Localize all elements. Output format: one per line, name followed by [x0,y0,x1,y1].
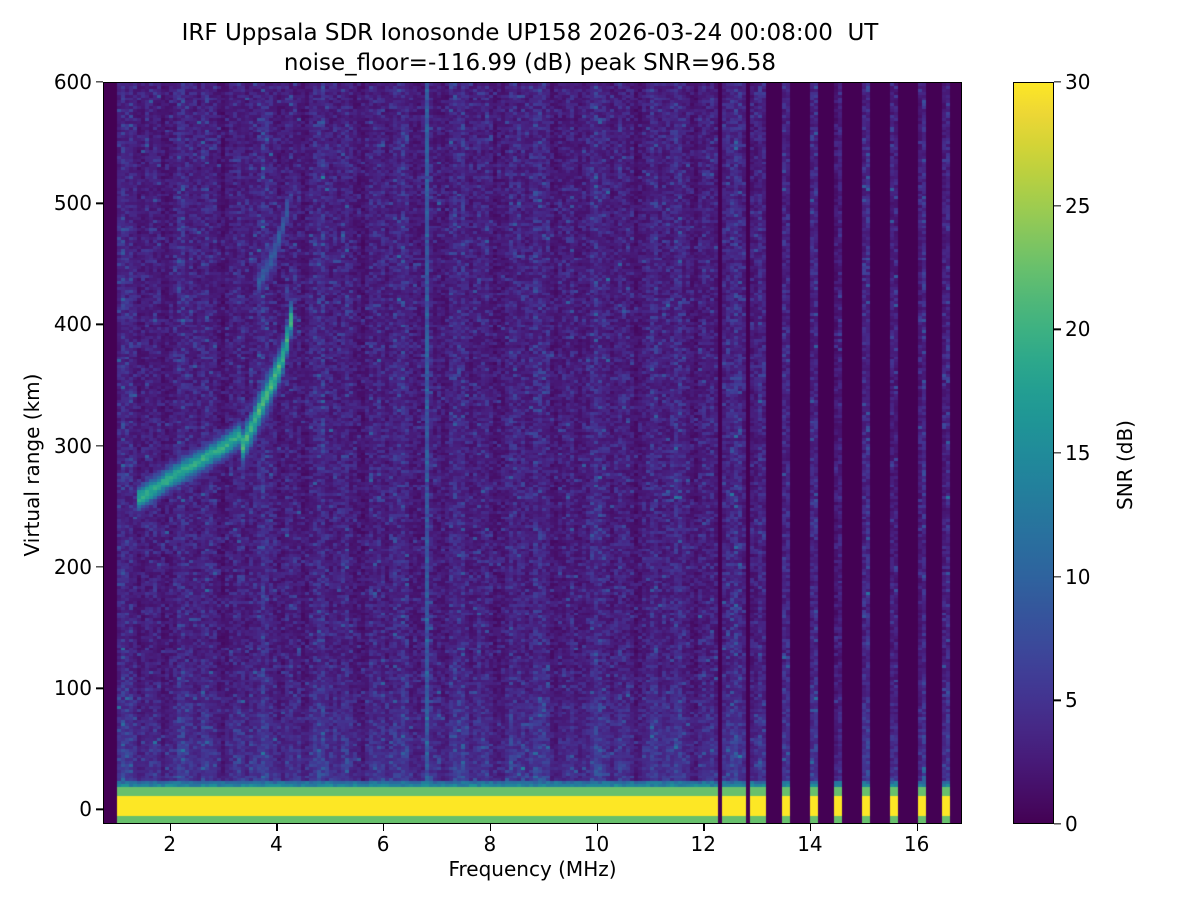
colorbar-tick-mark [1054,329,1061,330]
y-tick-label-200: 200 [54,555,92,579]
colorbar-tick-label-0: 0 [1065,812,1078,836]
y-tick-label-100: 100 [54,676,92,700]
colorbar-tick-mark [1054,823,1061,824]
colorbar-tick-label-25: 25 [1065,194,1090,218]
x-tick-mark [276,824,277,831]
colorbar-tick-mark [1054,81,1061,82]
title-line-2: noise_floor=-116.99 (dB) peak SNR=96.58 [0,48,1060,78]
y-tick-mark [96,566,103,567]
x-tick-mark [170,824,171,831]
ionogram-plot-area [103,82,962,824]
x-tick-label-10: 10 [584,832,609,856]
y-tick-mark [96,203,103,204]
colorbar [1013,82,1054,824]
colorbar-tick-label-5: 5 [1065,688,1078,712]
y-tick-mark [96,688,103,689]
x-tick-label-6: 6 [377,832,390,856]
x-tick-mark [703,824,704,831]
x-tick-mark [917,824,918,831]
x-axis-label: Frequency (MHz) [103,857,962,881]
colorbar-tick-mark [1054,700,1061,701]
y-tick-mark [96,445,103,446]
x-tick-label-4: 4 [270,832,283,856]
x-tick-mark [597,824,598,831]
y-tick-label-300: 300 [54,434,92,458]
colorbar-label: SNR (dB) [1113,340,1137,590]
x-tick-label-2: 2 [163,832,176,856]
ionogram-heatmap [104,83,962,824]
colorbar-tick-mark [1054,576,1061,577]
x-tick-mark [383,824,384,831]
y-axis-label: Virtual range (km) [20,340,44,590]
x-tick-label-8: 8 [483,832,496,856]
x-tick-label-12: 12 [690,832,715,856]
x-tick-label-16: 16 [904,832,929,856]
colorbar-tick-label-15: 15 [1065,441,1090,465]
x-tick-mark [490,824,491,831]
y-tick-mark [96,324,103,325]
y-tick-label-600: 600 [54,70,92,94]
colorbar-gradient [1014,83,1053,823]
y-tick-label-500: 500 [54,191,92,215]
y-tick-mark [96,809,103,810]
title-line-1: IRF Uppsala SDR Ionosonde UP158 2026-03-… [0,18,1060,48]
ionogram-figure: IRF Uppsala SDR Ionosonde UP158 2026-03-… [0,0,1200,900]
colorbar-tick-label-30: 30 [1065,70,1090,94]
y-tick-label-0: 0 [79,797,92,821]
figure-title: IRF Uppsala SDR Ionosonde UP158 2026-03-… [0,18,1060,78]
y-tick-label-400: 400 [54,312,92,336]
y-tick-mark [96,81,103,82]
colorbar-tick-mark [1054,452,1061,453]
colorbar-tick-mark [1054,205,1061,206]
x-tick-label-14: 14 [797,832,822,856]
colorbar-tick-label-10: 10 [1065,565,1090,589]
colorbar-tick-label-20: 20 [1065,317,1090,341]
x-tick-mark [810,824,811,831]
